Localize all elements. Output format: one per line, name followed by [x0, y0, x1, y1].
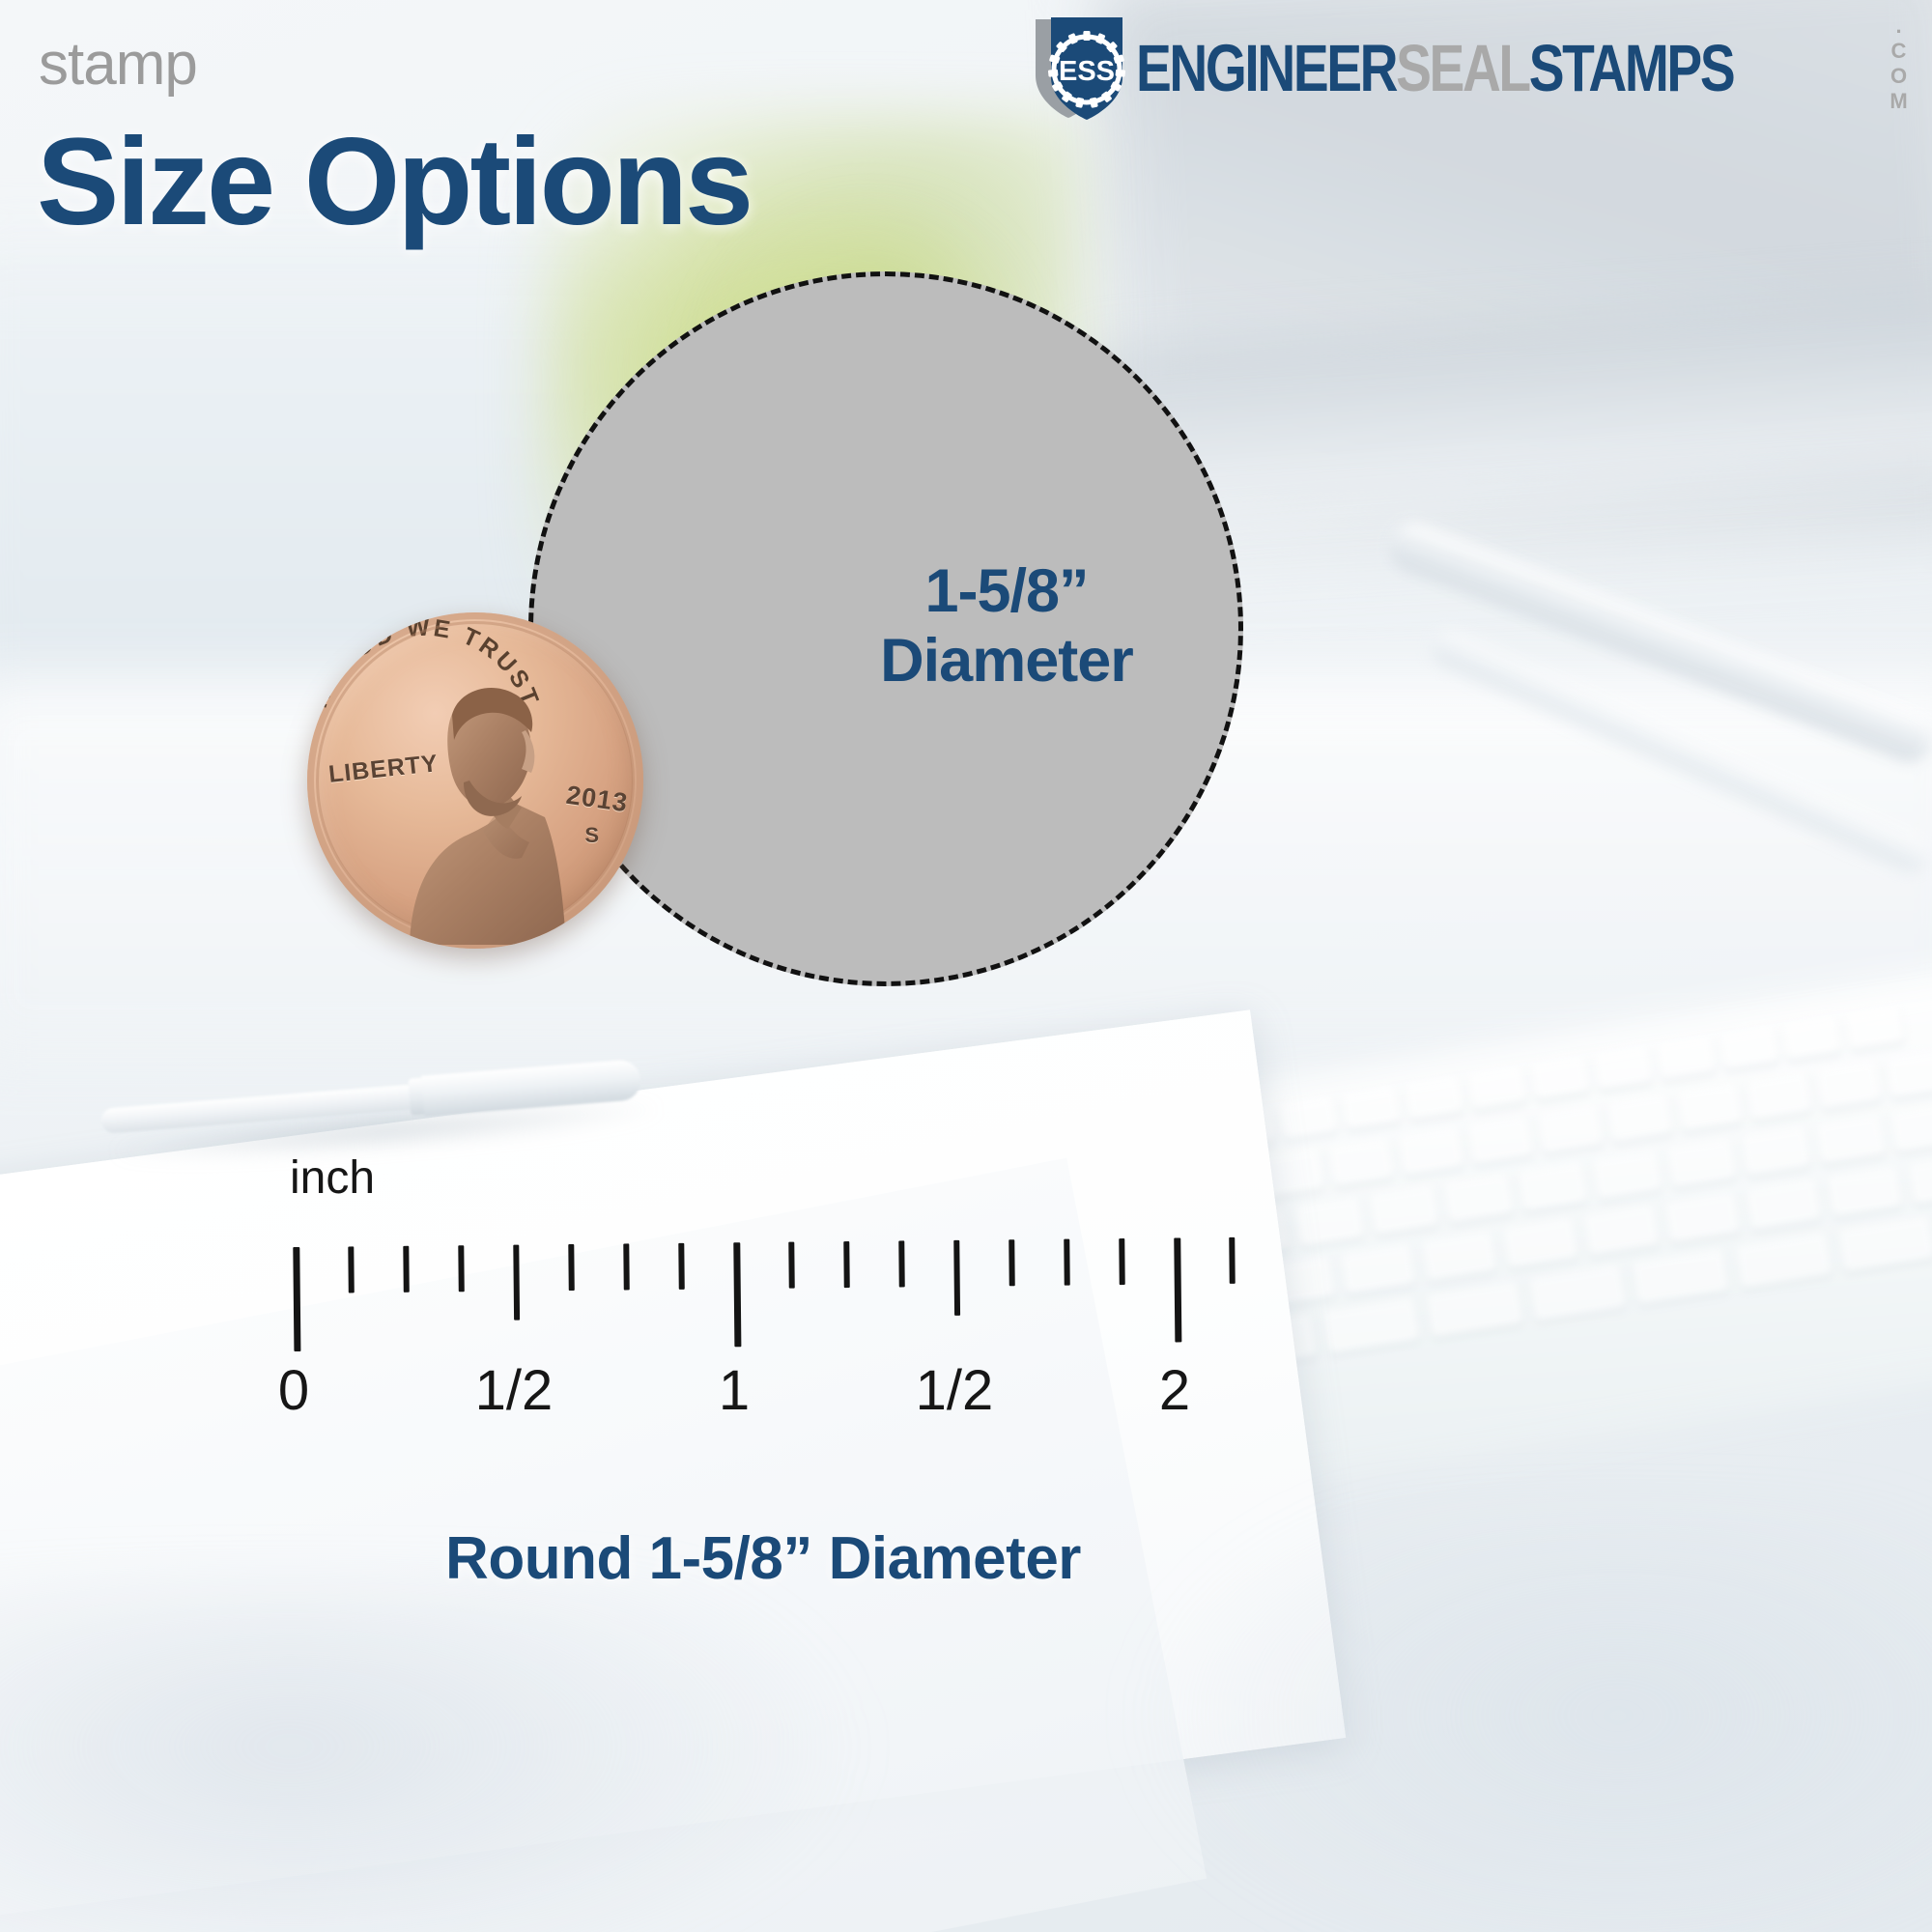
keyboard-key — [1676, 1082, 1744, 1133]
keyboard-key — [1746, 1070, 1813, 1122]
keyboard-key — [1340, 1243, 1417, 1296]
ruler-tick — [1229, 1237, 1236, 1284]
keyboard-key — [1258, 1148, 1325, 1199]
ruler-tick — [898, 1240, 905, 1287]
keyboard-key — [1327, 1137, 1395, 1188]
keyboard-key — [1536, 1103, 1604, 1154]
keyboard-key — [1606, 1093, 1674, 1144]
keyboard-key — [1719, 1025, 1780, 1072]
stamp-size-preview-circle: 1-5/8” Diameter — [528, 271, 1243, 986]
brand-word-engineer: ENGINEER — [1136, 35, 1396, 101]
keyboard-key — [1745, 1179, 1822, 1232]
ruler-tick — [568, 1244, 575, 1291]
keyboard-key — [1466, 1115, 1534, 1166]
keyboard-key — [1188, 1159, 1256, 1210]
keyboard-key — [1443, 1173, 1515, 1225]
ruler-tick — [403, 1246, 410, 1293]
keyboard-key — [1368, 1184, 1439, 1236]
brand-wordmark: ENGINEER SEAL STAMPS — [1136, 35, 1733, 101]
ruler-label: 2 — [1117, 1358, 1233, 1423]
ruler-label: 1/2 — [456, 1358, 572, 1423]
keyboard-key — [1089, 1124, 1151, 1172]
keyboard-key — [1632, 1248, 1730, 1306]
size-caption: Round 1-5/8” Diameter — [0, 1524, 1526, 1593]
ruler-label: 1 — [676, 1358, 792, 1423]
keyboard-key — [1656, 1035, 1718, 1082]
keyboard-key — [1404, 1075, 1465, 1122]
keyboard-key — [1425, 1281, 1523, 1339]
keyboard-key — [1341, 1085, 1403, 1132]
keyboard-key — [1664, 1191, 1742, 1244]
keyboard-key — [1518, 1161, 1589, 1213]
penny-scale-reference: IN GOD WE TRUST — [307, 612, 643, 949]
ruler-tick — [678, 1243, 685, 1290]
keyboard-key — [1278, 1094, 1340, 1142]
stamp-size-line-2: Diameter — [823, 626, 1190, 696]
keyboard-key — [1214, 1105, 1276, 1152]
keyboard-key — [1397, 1125, 1464, 1177]
keyboard-key — [1885, 1048, 1932, 1099]
keyboard-key — [1529, 1055, 1591, 1102]
keyboard-key — [1026, 1134, 1088, 1181]
ruler-tick — [623, 1243, 630, 1290]
ruler-tick — [1064, 1239, 1070, 1286]
ruler-tick — [953, 1240, 960, 1316]
brand-word-seal: SEAL — [1397, 35, 1530, 101]
keyboard-key — [1151, 1115, 1213, 1162]
ruler-tick — [458, 1245, 465, 1292]
ruler-tick — [1174, 1237, 1181, 1342]
ruler-tick — [733, 1242, 741, 1347]
keyboard-key — [1815, 1060, 1883, 1111]
ruler-tick — [1009, 1239, 1015, 1286]
size-options-graphic: stamp Size Options — [0, 0, 1932, 1932]
keyboard-key — [1119, 1170, 1186, 1221]
ruler-unit-label: inch — [290, 1151, 375, 1205]
background-stylus-pen-2 — [1427, 626, 1932, 878]
keyboard-key — [1049, 1180, 1117, 1232]
keyboard-key — [1322, 1297, 1421, 1355]
keyboard-key — [1741, 1125, 1812, 1178]
ruler-tick — [788, 1242, 795, 1289]
brand-dotcom: .COM — [1889, 14, 1907, 114]
keyboard-key — [1502, 1217, 1579, 1270]
ruler-label: 0 — [236, 1358, 352, 1423]
keyboard-key — [1592, 1149, 1663, 1201]
keyboard-key — [1844, 1005, 1906, 1052]
ruler-tick — [293, 1247, 300, 1351]
keyboard-key — [1837, 1215, 1932, 1273]
keyboard-key — [1889, 1102, 1932, 1154]
keyboard-key — [1528, 1264, 1627, 1322]
background-shadow-left — [0, 1584, 869, 1932]
keyboard-key — [1583, 1205, 1661, 1258]
keyboard-key — [1734, 1232, 1833, 1290]
stamp-size-line-1: 1-5/8” — [823, 556, 1190, 626]
keyboard-key — [1466, 1065, 1528, 1112]
page-title: Size Options — [37, 118, 751, 247]
keyboard-key — [1259, 1256, 1336, 1309]
keyboard-key — [1907, 1152, 1932, 1206]
brand-logo[interactable]: ESS ENGINEER SEAL STAMPS .COM — [1030, 17, 1907, 118]
keyboard-key — [1826, 1166, 1903, 1219]
keyboard-key — [1815, 1114, 1887, 1166]
ruler-tick — [843, 1241, 850, 1288]
ruler-tick — [348, 1246, 355, 1293]
gear-shield-icon: ESS — [1030, 14, 1130, 122]
ruler-tick — [513, 1245, 520, 1321]
lincoln-bust-icon — [400, 672, 574, 945]
ruler-tick — [1119, 1238, 1125, 1285]
keyboard-key — [1421, 1230, 1498, 1283]
ruler-label: 1/2 — [896, 1358, 1012, 1423]
brand-word-stamps: STAMPS — [1529, 35, 1734, 101]
background-stylus-pen — [1382, 516, 1932, 769]
keyboard-key — [1293, 1196, 1365, 1248]
penny-mint-mark: S — [584, 823, 599, 848]
stamp-size-text: 1-5/8” Diameter — [823, 556, 1190, 696]
keyboard-key — [1592, 1045, 1654, 1093]
badge-text: ESS — [1059, 56, 1115, 87]
kicker-label: stamp — [39, 35, 197, 95]
keyboard-key — [1666, 1137, 1738, 1189]
keyboard-key — [1781, 1015, 1843, 1063]
